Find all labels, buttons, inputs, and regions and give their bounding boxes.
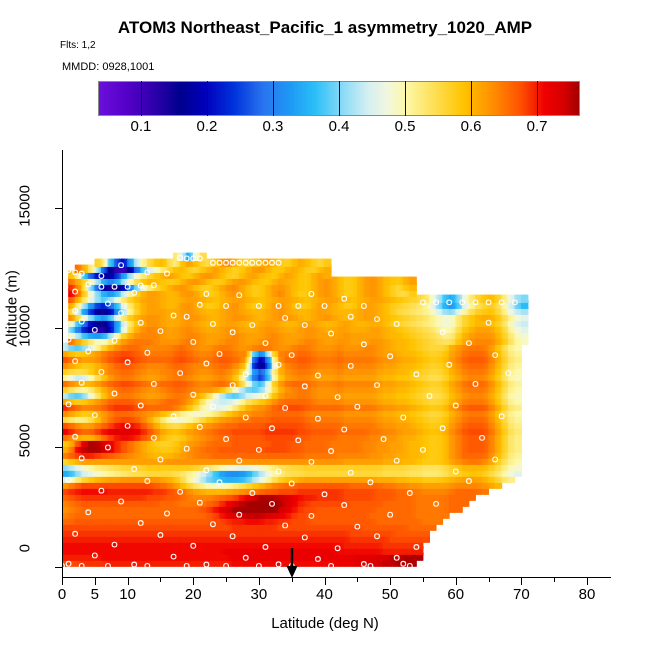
x-axis-minor-tick <box>226 578 227 582</box>
x-axis-tick-label: 0 <box>58 586 66 603</box>
x-axis-tick-label: 10 <box>119 586 136 603</box>
x-axis-tick <box>390 578 391 585</box>
x-axis-tick <box>62 578 63 585</box>
colorbar-tick <box>141 81 142 116</box>
x-axis-minor-tick <box>160 578 161 582</box>
x-axis-tick <box>456 578 457 585</box>
x-axis-tick <box>95 578 96 585</box>
flights-annotation: Flts: 1,2 <box>60 40 96 51</box>
x-axis-tick <box>128 578 129 585</box>
colorbar-tick-label: 0.6 <box>461 118 482 135</box>
y-axis-tick-label: 0 <box>17 544 34 590</box>
y-axis-tick <box>55 447 62 448</box>
colorbar-tick-label: 0.4 <box>329 118 350 135</box>
x-axis-tick <box>521 578 522 585</box>
y-axis-tick <box>55 208 62 209</box>
colorbar-tick <box>537 81 538 116</box>
x-axis-minor-tick <box>357 578 358 582</box>
x-axis-minor-tick <box>489 578 490 582</box>
y-axis-tick <box>55 567 62 568</box>
heatmap-image <box>62 150 610 577</box>
y-axis-line <box>62 150 63 578</box>
x-axis-minor-tick <box>423 578 424 582</box>
x-axis-tick-label: 40 <box>316 586 333 603</box>
y-axis-tick-label: 5000 <box>17 424 34 470</box>
x-axis-tick-label: 60 <box>447 586 464 603</box>
x-axis-minor-tick <box>292 578 293 582</box>
colorbar-tick <box>273 81 274 116</box>
colorbar-tick-labels: 0.10.20.30.40.50.60.7 <box>98 118 580 138</box>
colorbar-tick-label: 0.5 <box>395 118 416 135</box>
colorbar-tick-label: 0.3 <box>263 118 284 135</box>
y-axis-title: Altitude (m) <box>4 209 21 409</box>
colorbar-tick-label: 0.2 <box>197 118 218 135</box>
x-axis-tick-label: 30 <box>251 586 268 603</box>
x-axis-tick <box>325 578 326 585</box>
colorbar-tick-label: 0.1 <box>130 118 151 135</box>
x-axis-tick <box>259 578 260 585</box>
x-axis-tick-label: 5 <box>91 586 99 603</box>
x-axis-tick <box>193 578 194 585</box>
colorbar-tick <box>405 81 406 116</box>
colorbar <box>98 81 580 116</box>
x-axis-title: Latitude (deg N) <box>0 615 650 632</box>
x-axis-line <box>62 577 611 578</box>
page-title: ATOM3 Northeast_Pacific_1 asymmetry_1020… <box>0 18 650 38</box>
x-axis-tick-label: 20 <box>185 586 202 603</box>
heatmap-plot-area <box>62 150 610 577</box>
colorbar-tick <box>471 81 472 116</box>
chart-canvas-root: ATOM3 Northeast_Pacific_1 asymmetry_1020… <box>0 0 650 650</box>
x-axis-tick <box>587 578 588 585</box>
colorbar-tick-label: 0.7 <box>527 118 548 135</box>
latitude-marker-arrow <box>285 548 299 578</box>
colorbar-tick <box>339 81 340 116</box>
y-axis-tick <box>55 328 62 329</box>
colorbar-tick <box>207 81 208 116</box>
mmdd-annotation: MMDD: 0928,1001 <box>62 61 154 73</box>
x-axis-tick-label: 80 <box>579 586 596 603</box>
x-axis-tick-label: 70 <box>513 586 530 603</box>
x-axis-minor-tick <box>554 578 555 582</box>
x-axis-tick-label: 50 <box>382 586 399 603</box>
